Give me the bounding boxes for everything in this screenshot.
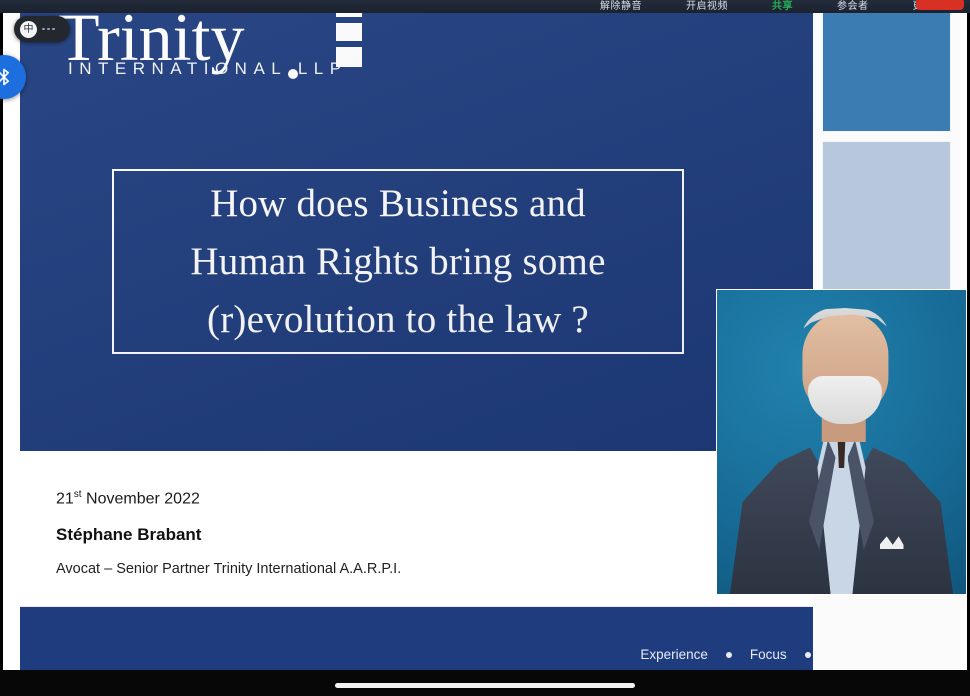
- end-meeting-button[interactable]: [916, 0, 964, 10]
- slide-speaker-role: Avocat – Senior Partner Trinity Internat…: [56, 561, 401, 577]
- footer-bullet-icon: [805, 652, 811, 658]
- system-bottom-bar: [0, 670, 970, 696]
- slide-speaker-name: Stéphane Brabant: [56, 525, 201, 545]
- logo-bars-mark: [336, 11, 362, 81]
- ime-mode-icon[interactable]: 中: [20, 21, 37, 38]
- logo-subtitle: INTERNATIONAL LLP: [68, 59, 348, 79]
- slide-date-suffix: st: [74, 489, 82, 500]
- slide-footer: Experience Focus Innovation: [20, 606, 923, 677]
- active-speaker-video[interactable]: [716, 289, 967, 595]
- start-video-button[interactable]: 开启视频: [686, 0, 728, 12]
- home-indicator[interactable]: [335, 683, 635, 688]
- slide-title-box: How does Business and Human Rights bring…: [112, 169, 684, 354]
- share-button[interactable]: 共享: [772, 0, 793, 12]
- meeting-toolbar-items: 解除静音 开启视频 共享 参会者 更多: [600, 0, 934, 12]
- meeting-toolbar[interactable]: 解除静音 开启视频 共享 参会者 更多: [0, 0, 970, 13]
- participants-button[interactable]: 参会者: [837, 0, 869, 12]
- ime-floating-widget[interactable]: 中: [14, 16, 70, 42]
- unmute-button[interactable]: 解除静音: [600, 0, 642, 12]
- ime-more-icon[interactable]: [42, 28, 55, 31]
- trinity-logo: Trinity INTERNATIONAL LLP: [42, 11, 372, 98]
- slide-date-rest: November 2022: [82, 490, 200, 507]
- slide-date-day: 21: [56, 490, 74, 507]
- participant-thumbnail-2[interactable]: [822, 141, 951, 301]
- participant-thumbnail-1[interactable]: [822, 11, 951, 132]
- footer-item-focus: Focus: [750, 647, 787, 662]
- logo-dot-mark: [288, 69, 298, 79]
- footer-bullet-icon: [726, 652, 732, 658]
- bluetooth-icon: [0, 67, 14, 87]
- slide-date: 21st November 2022: [56, 489, 200, 508]
- screen-root: Trinity INTERNATIONAL LLP How does Busin…: [0, 0, 970, 696]
- slide-title: How does Business and Human Rights bring…: [190, 175, 605, 349]
- footer-item-experience: Experience: [640, 647, 708, 662]
